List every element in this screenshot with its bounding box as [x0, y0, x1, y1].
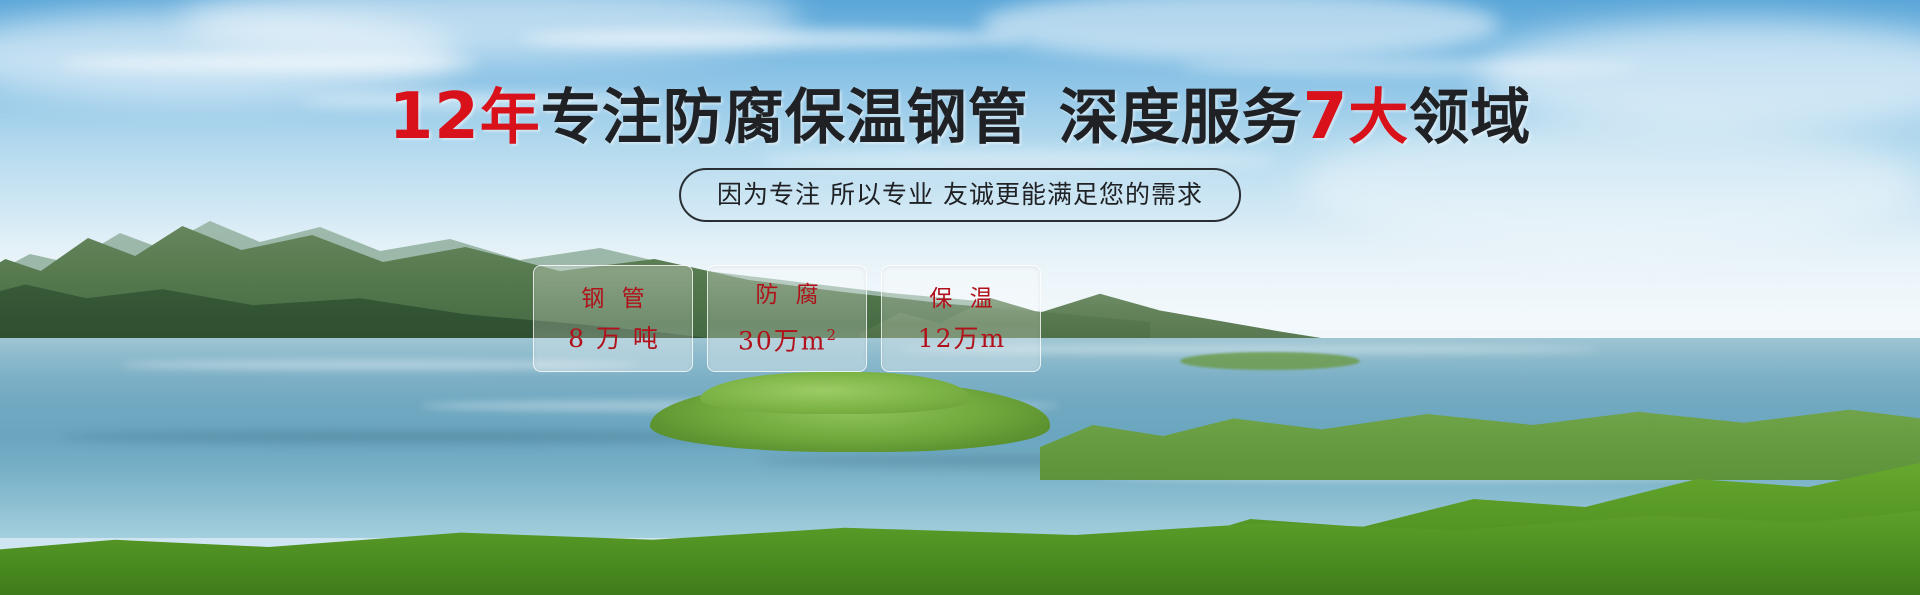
headline-years-number: 12 [389, 80, 480, 154]
stat-value-text: 30万m [738, 327, 827, 356]
headline-second-text: 深度服务 [1059, 83, 1303, 153]
headline-years-unit: 年 [480, 83, 541, 153]
hero-banner: 12年专注防腐保温钢管深度服务7大领域 因为专注 所以专业 友诚更能满足您的需求… [0, 0, 1920, 595]
cloud-decoration [760, 150, 1280, 170]
stat-label: 防 腐 [750, 280, 823, 310]
stat-value: 8 万 吨 [566, 324, 660, 354]
headline-tail-text: 领域 [1409, 83, 1531, 153]
stat-value-text: 8 万 吨 [568, 324, 660, 353]
cloud-decoration [60, 55, 480, 71]
stat-value: 12万m [916, 324, 1007, 354]
small-islet [1180, 352, 1360, 370]
stat-value: 30万m2 [736, 320, 838, 356]
stat-value-superscript: 2 [826, 326, 838, 344]
stat-label: 钢 管 [576, 284, 649, 314]
stat-card-anticorrosion[interactable]: 防 腐 30万m2 [707, 265, 867, 372]
headline-main-text: 专注防腐保温钢管 [541, 83, 1029, 153]
headline-seven-unit: 大 [1348, 83, 1409, 153]
stat-box-group: 钢 管 8 万 吨 防 腐 30万m2 保 温 12万m [533, 265, 1041, 372]
headline-seven-number: 7 [1303, 80, 1349, 154]
banner-headline: 12年专注防腐保温钢管深度服务7大领域 [0, 82, 1920, 153]
stat-card-steel-pipe[interactable]: 钢 管 8 万 吨 [533, 265, 693, 372]
subtitle-pill: 因为专注 所以专业 友诚更能满足您的需求 [679, 168, 1241, 222]
stat-value-text: 12万m [918, 324, 1007, 353]
grass-island-top [700, 372, 970, 414]
cloud-decoration [520, 30, 1020, 48]
stat-label: 保 温 [924, 284, 997, 314]
stat-card-insulation[interactable]: 保 温 12万m [881, 265, 1041, 372]
